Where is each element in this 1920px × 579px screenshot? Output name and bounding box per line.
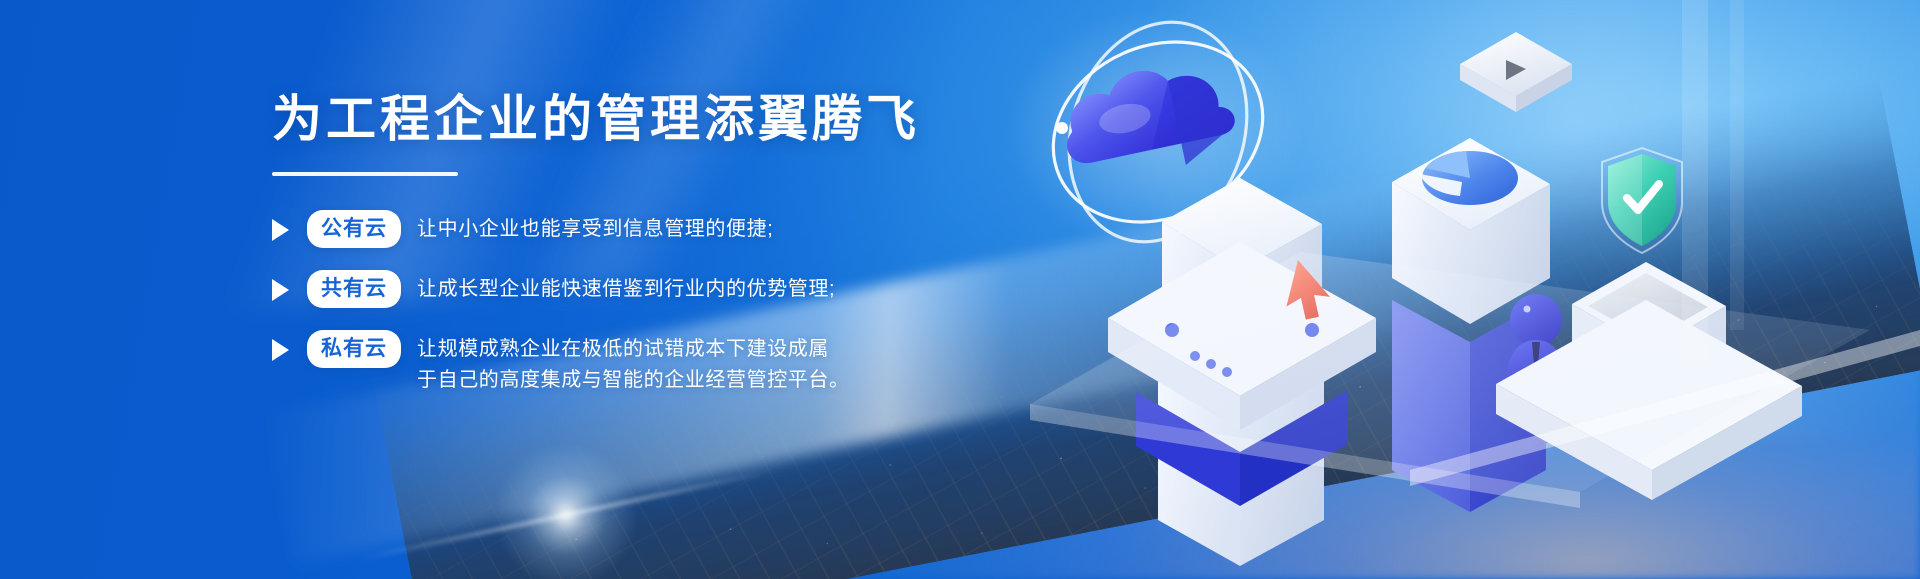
feature-line: 让规模成熟企业在极低的试错成本下建设成属 (417, 334, 850, 365)
list-item: 公有云 让中小企业也能享受到信息管理的便捷; (272, 210, 1032, 248)
feature-description: 让规模成熟企业在极低的试错成本下建设成属 于自己的高度集成与智能的企业经营管控平… (417, 330, 850, 396)
list-item: 共有云 让成长型企业能快速借鉴到行业内的优势管理; (272, 270, 1032, 308)
hero-content: 为工程企业的管理添翼腾飞 公有云 让中小企业也能享受到信息管理的便捷; 共有云 … (272, 92, 1032, 396)
lens-flare (491, 440, 641, 579)
status-badge: 共有云 (307, 270, 401, 308)
feature-line: 让成长型企业能快速借鉴到行业内的优势管理; (417, 274, 835, 305)
list-item: 私有云 让规模成熟企业在极低的试错成本下建设成属 于自己的高度集成与智能的企业经… (272, 330, 1032, 396)
hero-banner: 为工程企业的管理添翼腾飞 公有云 让中小企业也能享受到信息管理的便捷; 共有云 … (0, 0, 1920, 579)
feature-description: 让成长型企业能快速借鉴到行业内的优势管理; (417, 270, 835, 305)
title-divider (272, 172, 458, 176)
status-badge: 公有云 (307, 210, 401, 248)
play-triangle-icon (272, 279, 289, 301)
feature-list: 公有云 让中小企业也能享受到信息管理的便捷; 共有云 让成长型企业能快速借鉴到行… (272, 210, 1032, 396)
play-triangle-icon (272, 339, 289, 361)
status-badge: 私有云 (307, 330, 401, 368)
feature-line: 让中小企业也能享受到信息管理的便捷; (417, 214, 773, 245)
page-title: 为工程企业的管理添翼腾飞 (272, 92, 1032, 146)
feature-line: 于自己的高度集成与智能的企业经营管控平台。 (417, 365, 850, 396)
feature-description: 让中小企业也能享受到信息管理的便捷; (417, 210, 773, 245)
play-triangle-icon (272, 219, 289, 241)
